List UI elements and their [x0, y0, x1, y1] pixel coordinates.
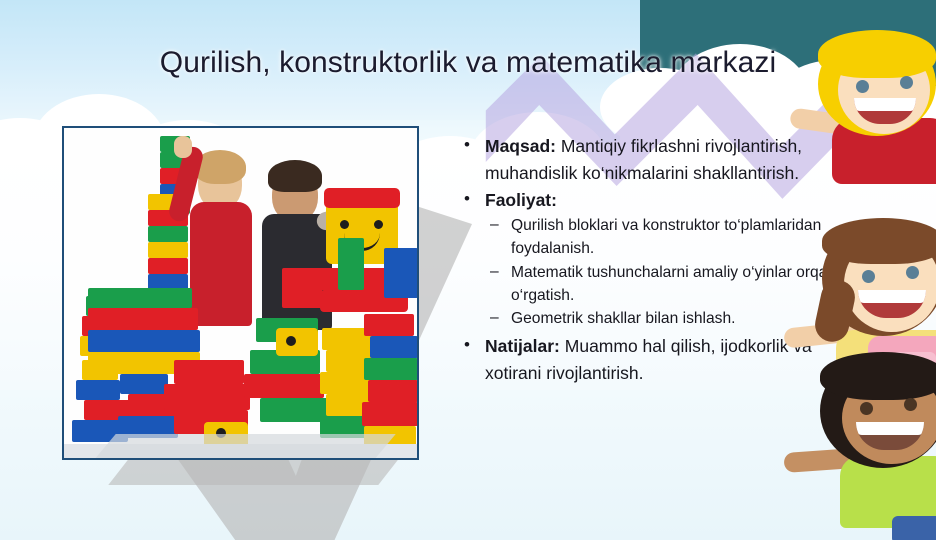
list-item-lead: Faoliyat: [485, 190, 557, 210]
list-item-lead: Natijalar: [485, 336, 560, 356]
dash-marker: – [490, 214, 499, 237]
list-item: – Matematik tushunchalarni amaliy o‘yinl… [455, 262, 855, 308]
list-item: – Qurilish bloklari va konstruktor to‘pl… [455, 215, 855, 261]
list-item-lead: Maqsad: [485, 136, 556, 156]
list-item: • Faoliyat: [455, 187, 855, 214]
presentation-slide: Qurilish, konstruktorlik va matematika m… [0, 0, 936, 540]
cartoon-child-blonde-red-shirt [800, 28, 936, 178]
blocks-photo [62, 126, 419, 460]
list-item-text: Matematik tushunchalarni amaliy o‘yinlar… [511, 264, 834, 304]
bullet-marker: • [464, 186, 470, 212]
content-list: • Maqsad: Mantiqiy fikrlashni rivojlanti… [455, 133, 855, 388]
cartoon-child-darkhair-green-shirt [800, 352, 936, 532]
dash-marker: – [490, 307, 499, 330]
bullet-marker: • [464, 332, 470, 358]
list-item: • Maqsad: Mantiqiy fikrlashni rivojlanti… [455, 133, 855, 186]
list-item-text: Qurilish bloklari va konstruktor to‘plam… [511, 217, 821, 257]
page-title: Qurilish, konstruktorlik va matematika m… [0, 46, 936, 80]
list-item-text: Geometrik shakllar bilan ishlash. [511, 310, 735, 327]
bullet-marker: • [464, 132, 470, 158]
dash-marker: – [490, 261, 499, 284]
